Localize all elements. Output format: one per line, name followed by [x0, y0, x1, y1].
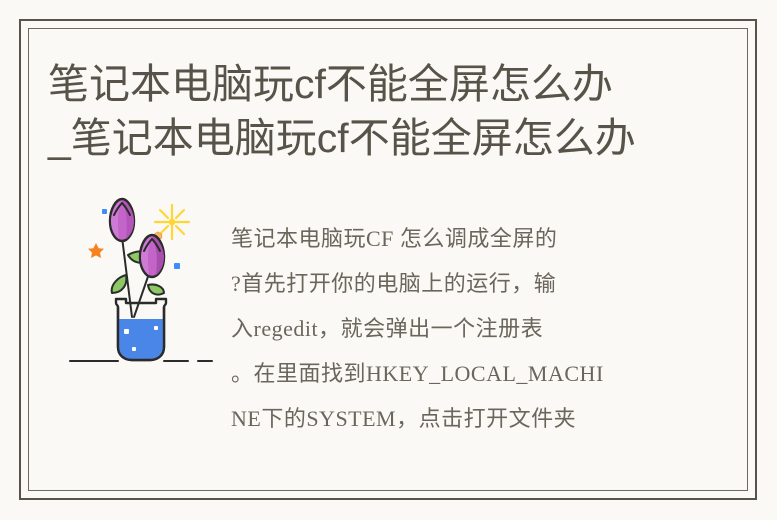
glass-jar: [116, 299, 166, 360]
article-card: 笔记本电脑玩cf不能全屏怎么办 _笔记本电脑玩cf不能全屏怎么办: [0, 0, 777, 520]
tulip-flower-left: [110, 199, 134, 241]
leaf-left-lower: [112, 275, 127, 293]
flowers-in-vase-illustration: [60, 195, 220, 375]
body-line-1: 笔记本电脑玩CF 怎么调成全屏的: [231, 216, 667, 261]
sparkle-blue-dot-upper: [102, 209, 107, 214]
title-line-1: 笔记本电脑玩cf不能全屏怎么办: [48, 57, 708, 111]
body-line-5: NE下的SYSTEM，点击打开文件夹: [231, 396, 667, 441]
sparkle-starburst-core: [169, 219, 176, 226]
water-highlight-1: [124, 329, 129, 334]
leaf-right-lower: [148, 284, 164, 294]
jar-water: [118, 319, 164, 360]
sparkle-blue-dot-right: [174, 263, 180, 269]
water-highlight-2: [154, 326, 158, 330]
article-body: 笔记本电脑玩CF 怎么调成全屏的 ?首先打开你的电脑上的运行，输 入regedi…: [231, 216, 667, 441]
body-line-2: ?首先打开你的电脑上的运行，输: [231, 261, 667, 306]
body-line-4: 。在里面找到HKEY_LOCAL_MACHI: [231, 351, 667, 396]
title-line-2: _笔记本电脑玩cf不能全屏怎么办: [48, 111, 708, 165]
tulip-flower-right: [140, 235, 164, 277]
water-highlight-3: [132, 347, 136, 351]
page-title: 笔记本电脑玩cf不能全屏怎么办 _笔记本电脑玩cf不能全屏怎么办: [48, 57, 708, 165]
body-line-3: 入regedit，就会弹出一个注册表: [231, 306, 667, 351]
sparkle-star-icon: [88, 243, 104, 258]
